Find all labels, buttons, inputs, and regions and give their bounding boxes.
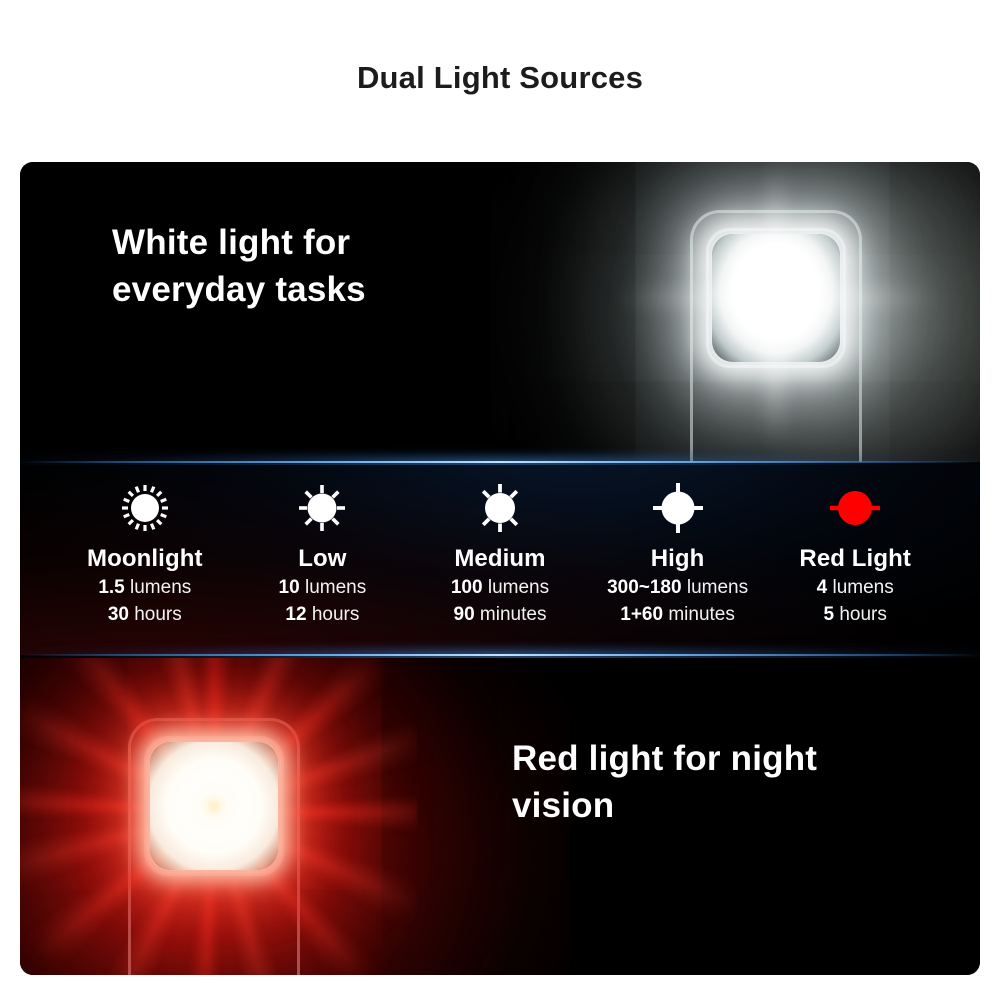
- mode-lumens-unit: lumens: [832, 577, 893, 598]
- sun-low-icon: [286, 477, 358, 539]
- mode-low: Low 10 lumens 12 hours: [234, 477, 412, 627]
- mode-moonlight: Moonlight 1.5 lumens 30 hours: [56, 477, 234, 627]
- mode-runtime: 30 hours: [56, 603, 234, 627]
- mode-runtime-value: 30: [108, 604, 129, 625]
- mode-runtime-unit: minutes: [668, 604, 735, 625]
- mode-runtime-unit: hours: [134, 604, 182, 625]
- mode-runtime-unit: hours: [312, 604, 360, 625]
- mode-runtime-unit: minutes: [480, 604, 547, 625]
- infographic-page: Dual Light Sources White light for every…: [0, 0, 1000, 1000]
- mode-lumens-value: 1.5: [98, 577, 124, 598]
- mode-label: Medium: [411, 545, 589, 573]
- sun-medium-icon: [464, 477, 536, 539]
- sun-red-light-icon: [819, 477, 891, 539]
- mode-runtime: 1+60 minutes: [589, 603, 767, 627]
- mode-runtime: 12 hours: [234, 603, 412, 627]
- mode-lumens: 100 lumens: [411, 576, 589, 600]
- mode-lumens-value: 10: [279, 577, 300, 598]
- dual-light-panel: White light for everyday tasks: [20, 162, 980, 975]
- mode-lumens-unit: lumens: [687, 577, 748, 598]
- mode-lumens-value: 300~180: [607, 577, 682, 598]
- mode-runtime-value: 5: [823, 604, 834, 625]
- mode-lumens: 1.5 lumens: [56, 576, 234, 600]
- mode-runtime-value: 1+60: [620, 604, 663, 625]
- sun-high-icon: [642, 477, 714, 539]
- white-headline-line-2: everyday tasks: [112, 267, 366, 314]
- light-modes-row: Moonlight 1.5 lumens 30 hours: [20, 465, 980, 655]
- flashlight-white-glow-icon: [690, 210, 862, 462]
- mode-runtime: 90 minutes: [411, 603, 589, 627]
- mode-lumens-value: 4: [817, 577, 828, 598]
- mode-lumens-value: 100: [451, 577, 483, 598]
- flashlight-lens-red: [150, 742, 278, 870]
- mode-lumens-unit: lumens: [305, 577, 366, 598]
- mode-lumens: 300~180 lumens: [589, 576, 767, 600]
- red-light-section: Red light for night vision: [20, 658, 980, 975]
- white-light-headline: White light for everyday tasks: [112, 220, 366, 313]
- lens-flare-horizontal: [618, 290, 938, 306]
- red-headline-line-1: Red light for night: [512, 736, 817, 783]
- red-headline-line-2: vision: [512, 783, 817, 830]
- page-title: Dual Light Sources: [0, 60, 1000, 96]
- mode-runtime-unit: hours: [839, 604, 887, 625]
- white-headline-line-1: White light for: [112, 220, 366, 267]
- mode-runtime: 5 hours: [766, 603, 944, 627]
- mode-medium: Medium 100 lumens 90 minutes: [411, 477, 589, 627]
- mode-high: High 300~180 lumens 1+60 minutes: [589, 477, 767, 627]
- mode-runtime-value: 90: [454, 604, 475, 625]
- red-light-headline: Red light for night vision: [512, 736, 817, 829]
- mode-label: Low: [234, 545, 412, 573]
- mode-red-light: Red Light 4 lumens 5 hours: [766, 477, 944, 627]
- mode-lumens-unit: lumens: [130, 577, 191, 598]
- mode-label: Red Light: [766, 545, 944, 573]
- sun-moonlight-icon: [109, 477, 181, 539]
- mode-label: Moonlight: [56, 545, 234, 573]
- mode-lumens-unit: lumens: [488, 577, 549, 598]
- mode-lumens: 10 lumens: [234, 576, 412, 600]
- mode-runtime-value: 12: [285, 604, 306, 625]
- mode-label: High: [589, 545, 767, 573]
- white-light-section: White light for everyday tasks: [20, 162, 980, 462]
- flashlight-red-glow-icon: [128, 718, 300, 975]
- mode-lumens: 4 lumens: [766, 576, 944, 600]
